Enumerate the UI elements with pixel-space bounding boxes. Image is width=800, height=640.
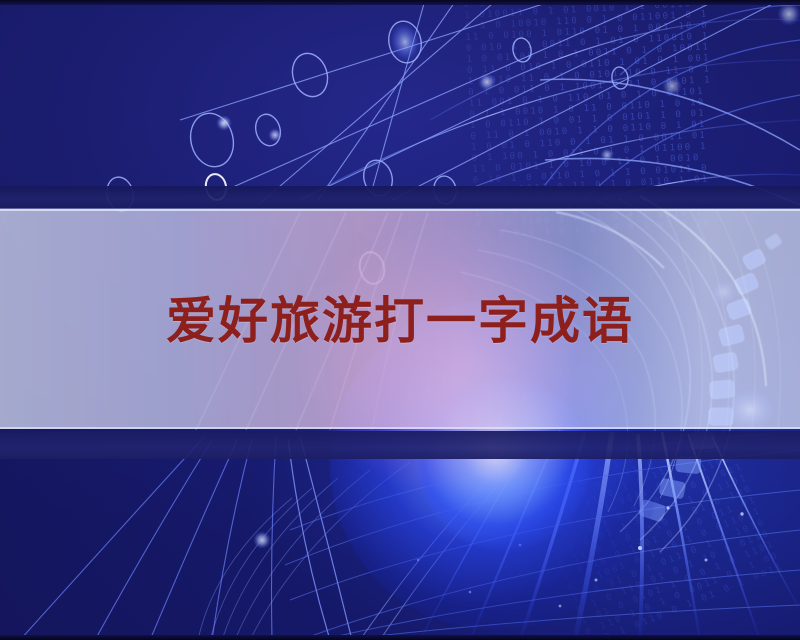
banner-image: 0 1 00100 11 0 1 0100110 01 0 1 1 010011… xyxy=(0,0,800,640)
top-divider-bar xyxy=(0,186,800,209)
page-title: 爱好旅游打一字成语 xyxy=(0,292,800,350)
bottom-divider-bar xyxy=(0,431,800,459)
top-edge-strip xyxy=(0,0,800,5)
bottom-edge-strip xyxy=(0,635,800,640)
